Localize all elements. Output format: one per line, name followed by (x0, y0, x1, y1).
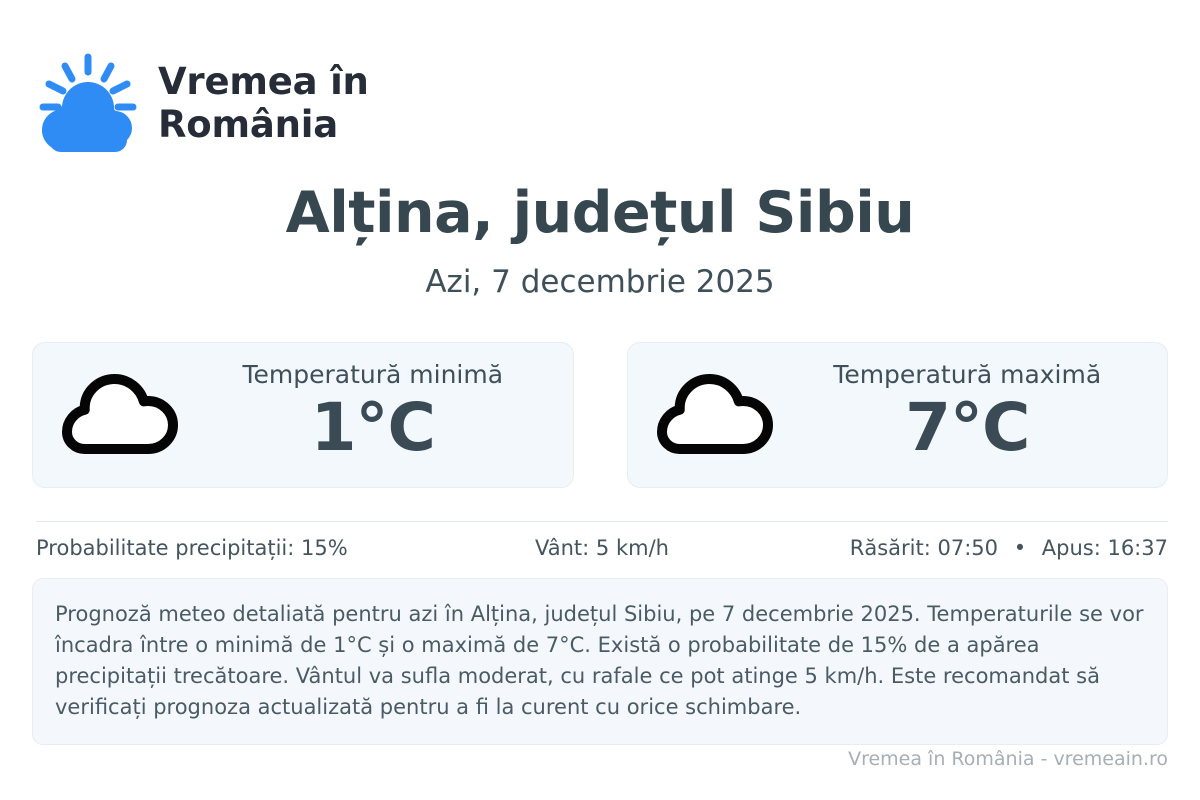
max-temperature-card: Temperatură maximă 7°C (627, 342, 1169, 488)
page-subtitle: Azi, 7 decembrie 2025 (0, 264, 1200, 300)
cloud-icon (59, 369, 181, 461)
min-temperature-body: Temperatură minimă 1°C (199, 361, 547, 464)
sun-times-stat: Răsărit: 07:50 • Apus: 16:37 (791, 536, 1168, 560)
brand-name: Vremea în România (158, 61, 369, 146)
cloud-icon (654, 369, 776, 461)
min-temperature-label: Temperatură minimă (242, 361, 503, 389)
sunrise-value: Răsărit: 07:50 (850, 536, 998, 560)
precipitation-stat: Probabilitate precipitații: 15% (36, 536, 413, 560)
bullet-separator-icon: • (1014, 536, 1026, 560)
weather-stats-row: Probabilitate precipitații: 15% Vânt: 5 … (36, 536, 1168, 560)
weather-page: Vremea în România Alțina, județul Sibiu … (0, 0, 1200, 800)
footer-credit: Vremea în România - vremeain.ro (0, 748, 1168, 770)
max-temperature-label: Temperatură maximă (833, 361, 1101, 389)
forecast-description: Prognoză meteo detaliată pentru azi în A… (32, 578, 1168, 745)
max-temperature-body: Temperatură maximă 7°C (794, 361, 1142, 464)
min-temperature-card: Temperatură minimă 1°C (32, 342, 574, 488)
page-title: Alțina, județul Sibiu (0, 183, 1200, 245)
section-divider (36, 521, 1168, 522)
brand-logo[interactable]: Vremea în România (36, 52, 369, 156)
min-temperature-value: 1°C (311, 391, 435, 465)
sun-behind-cloud-icon (36, 52, 140, 156)
sunset-value: Apus: 16:37 (1042, 536, 1168, 560)
wind-stat: Vânt: 5 km/h (413, 536, 790, 560)
temperature-cards: Temperatură minimă 1°C Temperatură maxim… (32, 342, 1168, 488)
max-temperature-value: 7°C (905, 391, 1029, 465)
